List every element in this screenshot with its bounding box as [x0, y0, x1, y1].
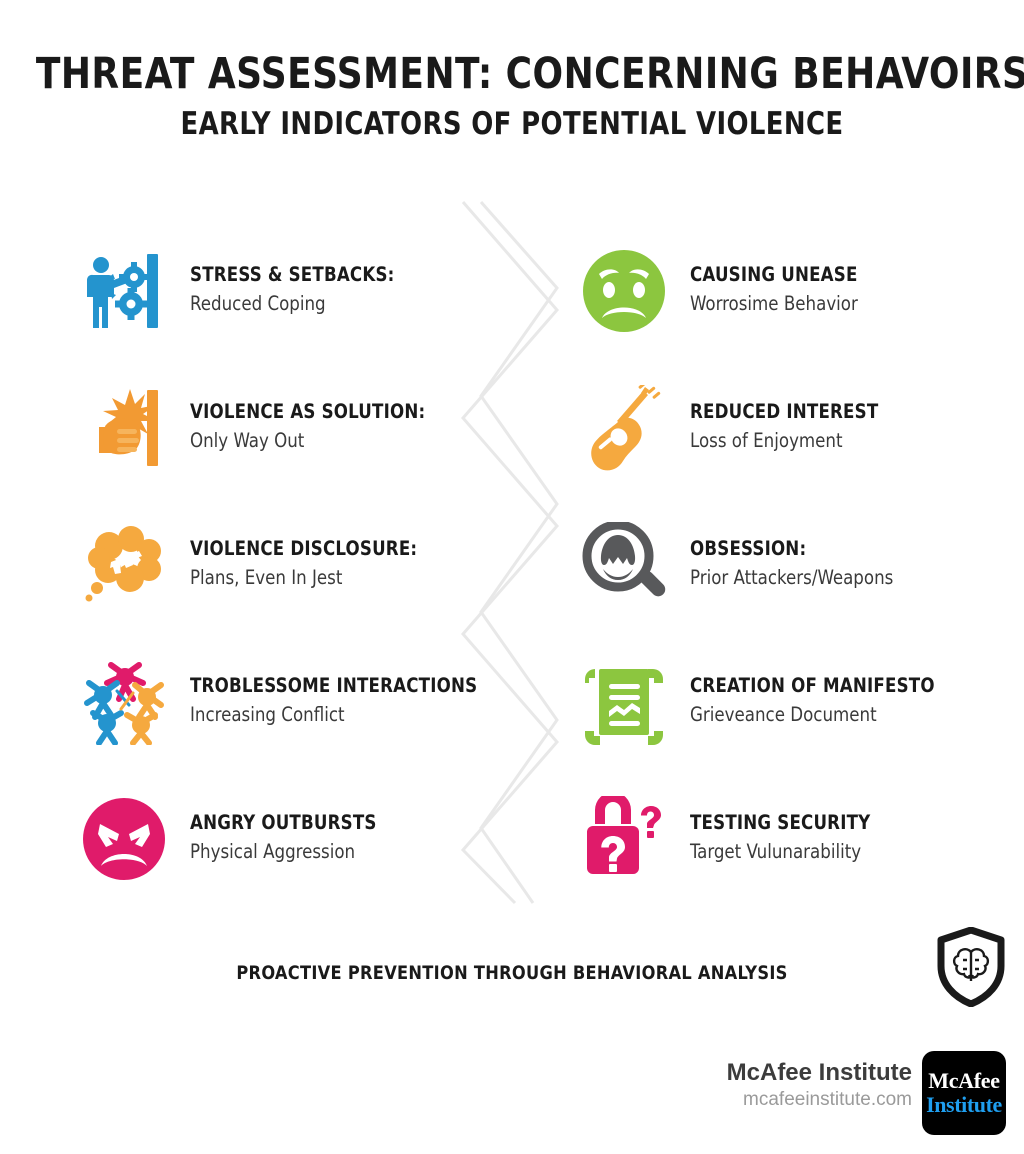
shield-brain-icon — [937, 927, 1005, 1007]
list-item-title: TESTING SECURITY — [690, 812, 870, 834]
left-column: STRESS & SETBACKS: Reduced Coping — [78, 222, 498, 907]
logo-line-2: Institute — [926, 1094, 1002, 1116]
list-item-text: TROBLESSOME INTERACTIONS Increasing Conf… — [190, 675, 492, 728]
list-item-text: CREATION OF MANIFESTO Grieveance Documen… — [690, 675, 948, 728]
angry-face-icon — [78, 793, 170, 885]
list-item-title: ANGRY OUTBURSTS — [190, 812, 377, 834]
list-item-subtitle: Reduced Coping — [190, 292, 395, 315]
list-item-subtitle: Only Way Out — [190, 429, 425, 452]
magnifier-masked-figure-icon — [578, 519, 670, 611]
right-column: CAUSING UNEASE Worrosime Behavior — [578, 222, 998, 907]
list-item[interactable]: TESTING SECURITY Target Vulunarability — [578, 770, 998, 907]
list-item[interactable]: TROBLESSOME INTERACTIONS Increasing Conf… — [78, 633, 498, 770]
list-item[interactable]: STRESS & SETBACKS: Reduced Coping — [78, 222, 498, 359]
list-item-text: VIOLENCE DISCLOSURE: Plans, Even In Jest — [190, 538, 429, 591]
list-item-text: ANGRY OUTBURSTS Physical Aggression — [190, 812, 386, 865]
brand-url[interactable]: mcafeeinstitute.com — [712, 1089, 912, 1112]
list-item-title: TROBLESSOME INTERACTIONS — [190, 675, 477, 697]
list-item-subtitle: Loss of Enjoyment — [690, 429, 878, 452]
list-item-title: REDUCED INTEREST — [690, 401, 878, 423]
list-item-title: OBSESSION: — [690, 538, 893, 560]
scroll-document-icon — [578, 656, 670, 748]
brand-name: McAfee Institute — [712, 1059, 912, 1087]
list-item-subtitle: Worrosime Behavior — [690, 292, 858, 315]
page-title: THREAT ASSESSMENT: CONCERNING BEHAVOIRS — [36, 52, 988, 98]
padlock-question-icon — [578, 793, 670, 885]
list-item[interactable]: CREATION OF MANIFESTO Grieveance Documen… — [578, 633, 998, 770]
list-item[interactable]: REDUCED INTEREST Loss of Enjoyment — [578, 359, 998, 496]
list-item-title: VIOLENCE AS SOLUTION: — [190, 401, 425, 423]
worried-face-icon — [578, 245, 670, 337]
list-item[interactable]: VIOLENCE AS SOLUTION: Only Way Out — [78, 359, 498, 496]
page-subtitle: EARLY INDICATORS OF POTENTIAL VIOLENCE — [36, 106, 988, 142]
list-item[interactable]: CAUSING UNEASE Worrosime Behavior — [578, 222, 998, 359]
logo-line-1: McAfee — [928, 1070, 999, 1092]
brand-text: McAfee Institute mcafeeinstitute.com — [712, 1059, 912, 1111]
list-item-subtitle: Increasing Conflict — [190, 703, 477, 726]
list-item-subtitle: Physical Aggression — [190, 840, 377, 863]
infographic-canvas: THREAT ASSESSMENT: CONCERNING BEHAVOIRS … — [0, 0, 1024, 1154]
list-item-title: CAUSING UNEASE — [690, 264, 858, 286]
list-item-text: VIOLENCE AS SOLUTION: Only Way Out — [190, 401, 438, 454]
guitar-icon — [578, 382, 670, 474]
mcafee-institute-logo[interactable]: McAfee Institute — [922, 1051, 1006, 1135]
list-item-subtitle: Grieveance Document — [690, 703, 935, 726]
list-item-title: CREATION OF MANIFESTO — [690, 675, 935, 697]
list-item-title: VIOLENCE DISCLOSURE: — [190, 538, 417, 560]
list-item-text: OBSESSION: Prior Attackers/Weapons — [690, 538, 904, 591]
list-item[interactable]: ANGRY OUTBURSTS Physical Aggression — [78, 770, 498, 907]
thought-bubble-gun-icon — [78, 519, 170, 611]
list-item-text: REDUCED INTEREST Loss of Enjoyment — [690, 401, 888, 454]
people-conflict-icon — [78, 656, 170, 748]
list-item-subtitle: Plans, Even In Jest — [190, 566, 417, 589]
header: THREAT ASSESSMENT: CONCERNING BEHAVOIRS … — [0, 52, 1024, 142]
person-hammering-gears-icon — [78, 245, 170, 337]
list-item-subtitle: Prior Attackers/Weapons — [690, 566, 893, 589]
list-item-text: CAUSING UNEASE Worrosime Behavior — [690, 264, 867, 317]
list-item[interactable]: VIOLENCE DISCLOSURE: Plans, Even In Jest — [78, 496, 498, 633]
list-item-subtitle: Target Vulunarability — [690, 840, 870, 863]
fist-punching-wall-icon — [78, 382, 170, 474]
list-item-title: STRESS & SETBACKS: — [190, 264, 395, 286]
footer-tagline: PROACTIVE PREVENTION THROUGH BEHAVIORAL … — [26, 962, 999, 984]
list-item[interactable]: OBSESSION: Prior Attackers/Weapons — [578, 496, 998, 633]
list-item-text: STRESS & SETBACKS: Reduced Coping — [190, 264, 405, 317]
list-item-text: TESTING SECURITY Target Vulunarability — [690, 812, 880, 865]
